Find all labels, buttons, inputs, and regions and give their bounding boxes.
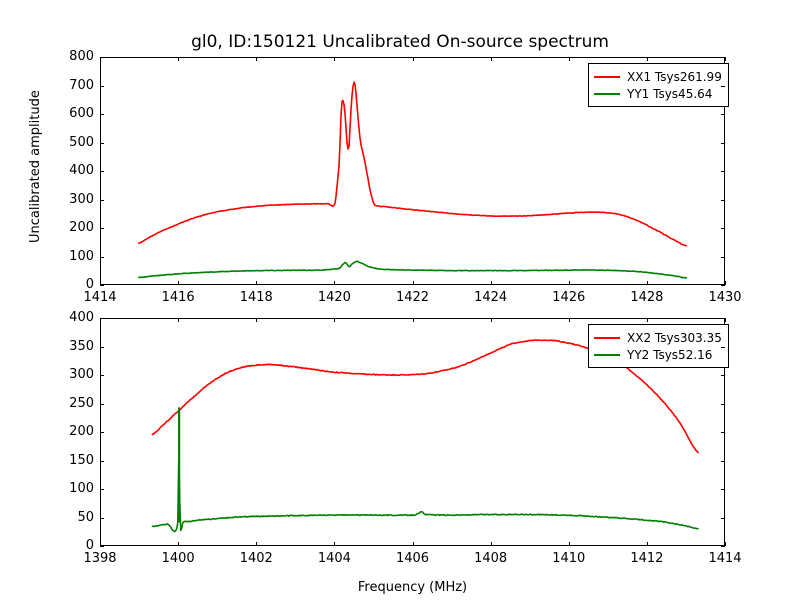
bottom-panel-ytick-label: 200	[34, 424, 94, 439]
top-panel-ytick-label: 100	[34, 249, 94, 264]
top-panel-xtick	[413, 57, 414, 61]
bottom-panel-ytick	[721, 432, 725, 433]
bottom-panel-ytick	[721, 404, 725, 405]
bottom-panel-xtick	[334, 318, 335, 322]
top-panel-ytick	[721, 114, 725, 115]
bottom-panel-xtick-label: 1414	[695, 551, 755, 566]
spectrum-line	[138, 261, 687, 278]
bottom-panel-ytick-label: 100	[34, 481, 94, 496]
bottom-panel-ytick	[100, 318, 104, 319]
top-panel-xtick	[725, 57, 726, 61]
top-panel-xtick-label: 1428	[617, 290, 677, 305]
bottom-panel-xtick	[725, 542, 726, 546]
top-panel-ytick-label: 0	[34, 277, 94, 292]
legend-swatch-line	[594, 337, 620, 339]
bottom-panel-ytick	[100, 461, 104, 462]
bottom-panel-ytick-label: 0	[34, 538, 94, 553]
legend-item: YY1 Tsys45.64	[594, 85, 722, 102]
top-panel-ytick-label: 400	[34, 163, 94, 178]
bottom-panel-xtick-label: 1400	[148, 551, 208, 566]
bottom-panel-ytick-label: 150	[34, 453, 94, 468]
bottom-panel-ytick-label: 300	[34, 367, 94, 382]
top-panel-xtick	[725, 281, 726, 285]
top-panel-xtick	[178, 281, 179, 285]
bottom-panel-ytick	[721, 461, 725, 462]
top-panel-ytick-label: 600	[34, 106, 94, 121]
bottom-panel-xtick	[647, 318, 648, 322]
bottom-panel-xtick	[413, 542, 414, 546]
top-panel-ytick	[721, 200, 725, 201]
bottom-panel-ytick	[721, 546, 725, 547]
top-panel-ytick	[721, 57, 725, 58]
legend-label: YY2 Tsys52.16	[627, 348, 712, 362]
top-panel-xtick	[491, 57, 492, 61]
figure-title: gl0, ID:150121 Uncalibrated On-source sp…	[0, 32, 800, 52]
bottom-panel-xtick-label: 1406	[383, 551, 443, 566]
top-panel-ytick	[721, 228, 725, 229]
bottom-panel-xtick	[569, 318, 570, 322]
bottom-panel-ytick	[100, 404, 104, 405]
top-panel-ytick-label: 700	[34, 78, 94, 93]
bottom-panel-xtick	[178, 542, 179, 546]
top-panel-ytick	[721, 257, 725, 258]
bottom-panel-xtick	[413, 318, 414, 322]
top-panel-xtick	[256, 57, 257, 61]
top-panel-ytick-label: 300	[34, 192, 94, 207]
legend-item: YY2 Tsys52.16	[594, 346, 722, 363]
bottom-panel-xtick	[491, 318, 492, 322]
bottom-panel-ytick	[100, 489, 104, 490]
top-panel-xtick	[256, 281, 257, 285]
bottom-panel-ytick	[721, 375, 725, 376]
top-panel-ytick	[100, 143, 104, 144]
bottom-panel-xtick	[725, 318, 726, 322]
top-panel-xtick-label: 1424	[461, 290, 521, 305]
bottom-panel-legend: XX2 Tsys303.35YY2 Tsys52.16	[588, 324, 729, 368]
top-panel-ytick-label: 800	[34, 49, 94, 64]
top-panel-xtick-label: 1414	[70, 290, 130, 305]
legend-item: XX1 Tsys261.99	[594, 68, 722, 85]
bottom-panel-xtick	[256, 542, 257, 546]
legend-swatch-line	[594, 354, 620, 356]
legend-label: YY1 Tsys45.64	[627, 87, 712, 101]
bottom-panel-xtick-label: 1404	[304, 551, 364, 566]
top-panel-ytick	[100, 86, 104, 87]
bottom-panel-xtick	[491, 542, 492, 546]
x-axis-label: Frequency (MHz)	[100, 580, 725, 595]
top-panel-xtick	[569, 281, 570, 285]
top-panel-xtick-label: 1420	[304, 290, 364, 305]
bottom-panel-ytick-label: 350	[34, 339, 94, 354]
bottom-panel-ytick	[721, 347, 725, 348]
top-panel-xtick	[569, 57, 570, 61]
bottom-panel-ytick-label: 50	[34, 510, 94, 525]
top-panel-xtick	[491, 281, 492, 285]
bottom-panel-xtick-label: 1408	[461, 551, 521, 566]
top-panel-legend: XX1 Tsys261.99YY1 Tsys45.64	[588, 63, 729, 107]
spectrum-line	[152, 459, 699, 532]
legend-swatch-line	[594, 76, 620, 78]
legend-label: XX2 Tsys303.35	[627, 331, 722, 345]
top-panel-xtick	[413, 281, 414, 285]
bottom-panel-xtick	[647, 542, 648, 546]
bottom-panel-ytick-label: 400	[34, 310, 94, 325]
top-panel-ytick	[721, 285, 725, 286]
bottom-panel-xtick-label: 1398	[70, 551, 130, 566]
bottom-panel-ytick	[100, 546, 104, 547]
top-panel-xtick	[334, 57, 335, 61]
top-panel-ytick	[721, 86, 725, 87]
top-panel-ytick-label: 500	[34, 135, 94, 150]
figure-canvas: gl0, ID:150121 Uncalibrated On-source sp…	[0, 0, 800, 600]
top-panel-ytick	[100, 171, 104, 172]
top-panel-ytick	[100, 228, 104, 229]
top-panel-ytick	[100, 200, 104, 201]
top-panel-xtick-label: 1422	[383, 290, 443, 305]
top-panel-xtick	[178, 57, 179, 61]
top-panel-xtick	[647, 57, 648, 61]
bottom-panel-ytick	[100, 347, 104, 348]
top-panel-ytick	[100, 257, 104, 258]
top-panel-ytick	[100, 57, 104, 58]
top-panel-ytick	[100, 114, 104, 115]
top-panel-ytick-label: 200	[34, 220, 94, 235]
bottom-panel-xtick	[569, 542, 570, 546]
top-panel-xtick-label: 1418	[226, 290, 286, 305]
legend-swatch-line	[594, 93, 620, 95]
bottom-panel-ytick	[721, 518, 725, 519]
bottom-panel-ytick	[100, 432, 104, 433]
legend-item: XX2 Tsys303.35	[594, 329, 722, 346]
top-panel-xtick	[647, 281, 648, 285]
bottom-panel-xtick-label: 1402	[226, 551, 286, 566]
bottom-panel-ytick	[100, 518, 104, 519]
bottom-panel-xtick	[178, 318, 179, 322]
bottom-panel-xtick	[256, 318, 257, 322]
top-panel-xtick-label: 1416	[148, 290, 208, 305]
bottom-panel-xtick-label: 1410	[539, 551, 599, 566]
legend-label: XX1 Tsys261.99	[627, 70, 722, 84]
top-panel-xtick	[334, 281, 335, 285]
top-panel-ytick	[100, 285, 104, 286]
bottom-panel-ytick	[721, 318, 725, 319]
bottom-panel-ytick	[721, 489, 725, 490]
top-panel-ytick	[721, 143, 725, 144]
top-panel-xtick-label: 1430	[695, 290, 755, 305]
bottom-panel-xtick	[334, 542, 335, 546]
bottom-panel-xtick-label: 1412	[617, 551, 677, 566]
top-panel-ytick	[721, 171, 725, 172]
bottom-panel-ytick	[100, 375, 104, 376]
bottom-panel-ytick-label: 250	[34, 396, 94, 411]
top-panel-xtick-label: 1426	[539, 290, 599, 305]
